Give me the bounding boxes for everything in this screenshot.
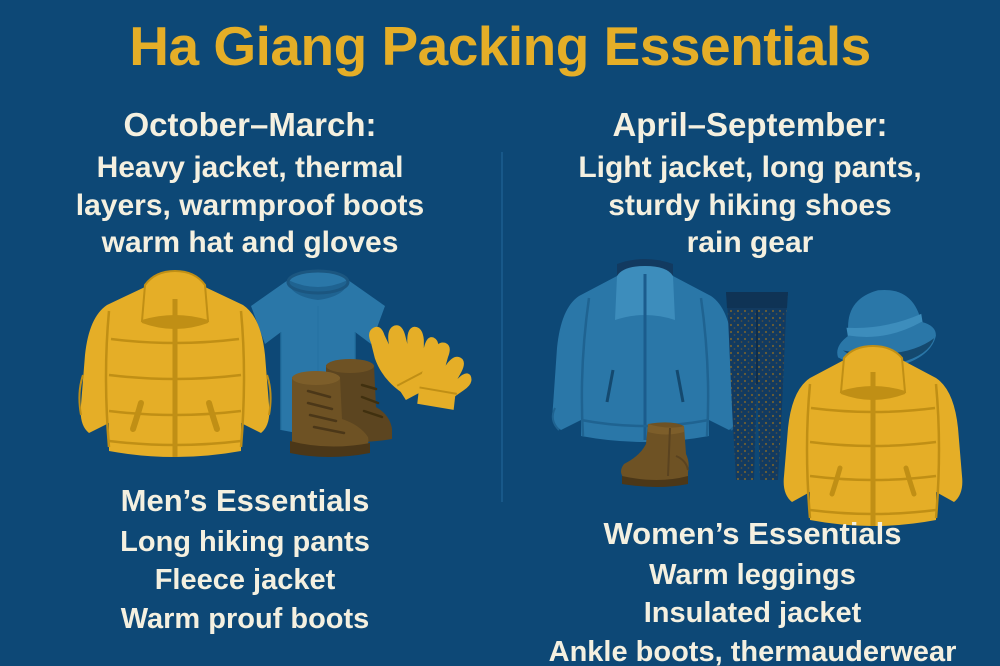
womens-essentials-title: Women’s Essentials [500,518,1000,549]
right-header-line-3: rain gear [520,224,980,262]
left-column-header: October–March: Heavy jacket, thermal lay… [20,108,480,262]
mens-essentials-title: Men’s Essentials [10,485,480,516]
left-season-label: October–March: [20,108,480,141]
yellow-gloves-illustration [362,308,470,430]
right-column-footer: Women’s Essentials Warm leggings Insulat… [500,518,1000,666]
right-column-header: April–September: Light jacket, long pant… [520,108,980,262]
womens-essentials-line-1: Warm leggings [500,556,1000,594]
left-header-line-3: warm hat and gloves [20,224,480,262]
left-column-footer: Men’s Essentials Long hiking pants Fleec… [10,485,480,638]
infographic-poster: Ha Giang Packing Essentials October–Marc… [0,0,1000,666]
right-header-line-1: Light jacket, long pants, [520,149,980,187]
mens-essentials-line-1: Long hiking pants [10,523,480,561]
womens-essentials-line-2: Insulated jacket [500,594,1000,632]
left-header-line-2: layers, warmproof boots [20,187,480,225]
mens-essentials-line-2: Fleece jacket [10,561,480,599]
column-divider [501,152,503,502]
yellow-puffer-jacket-womens-illustration [778,340,968,536]
page-title: Ha Giang Packing Essentials [0,18,1000,76]
mens-essentials-line-3: Warm prouf boots [10,600,480,638]
right-season-label: April–September: [520,108,980,141]
yellow-puffer-jacket-illustration [75,265,275,470]
left-header-line-1: Heavy jacket, thermal [20,149,480,187]
right-header-line-2: sturdy hiking shoes [520,187,980,225]
brown-ankle-boot-illustration [614,420,704,488]
womens-essentials-line-3: Ankle boots, thermauderwear [500,633,1000,666]
